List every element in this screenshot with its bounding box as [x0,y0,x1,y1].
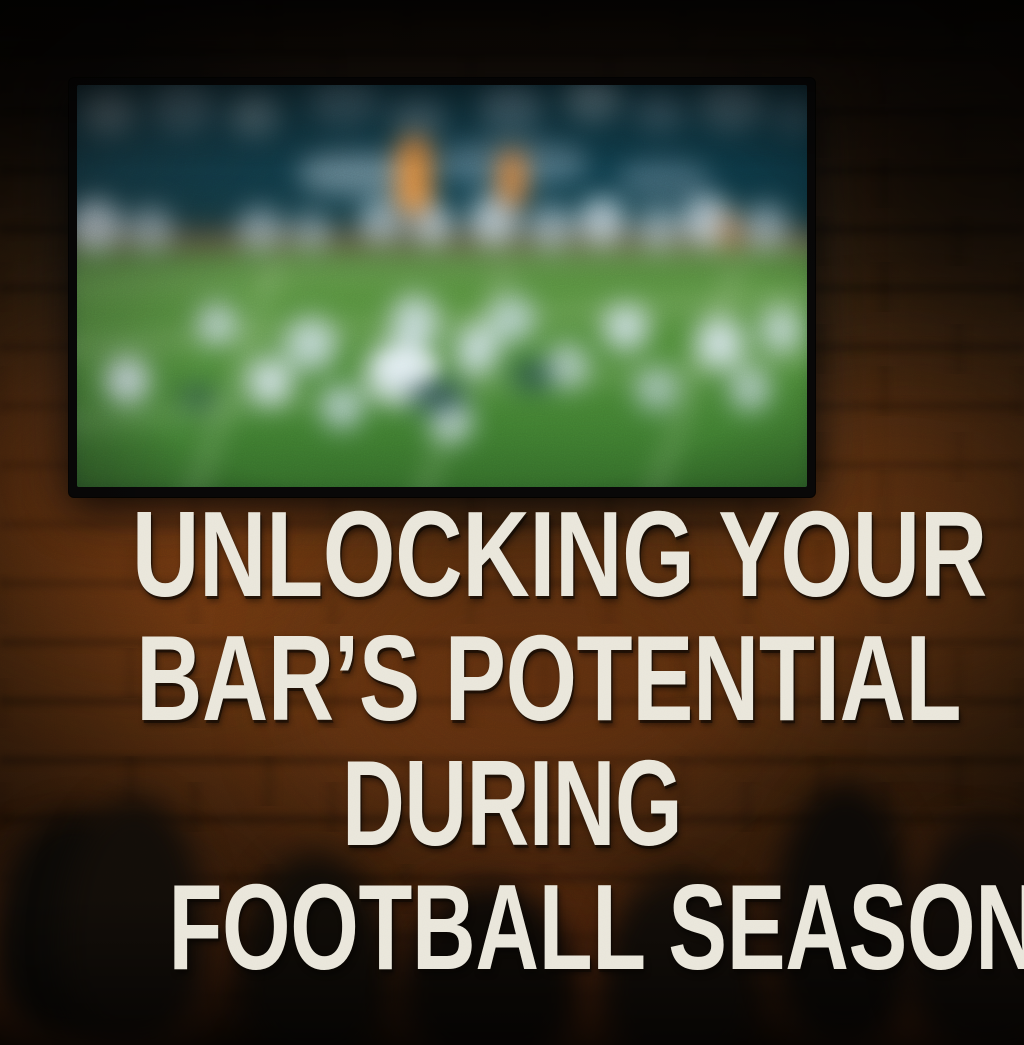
wall-mounted-television [69,78,815,497]
field-highlight [379,353,439,377]
broadcast-content [77,85,807,487]
broadcast-highlight-layer [77,85,807,487]
poster-canvas: UNLOCKING YOUR BAR’S POTENTIAL DURING FO… [0,0,1024,1045]
tv-screen [77,85,807,487]
